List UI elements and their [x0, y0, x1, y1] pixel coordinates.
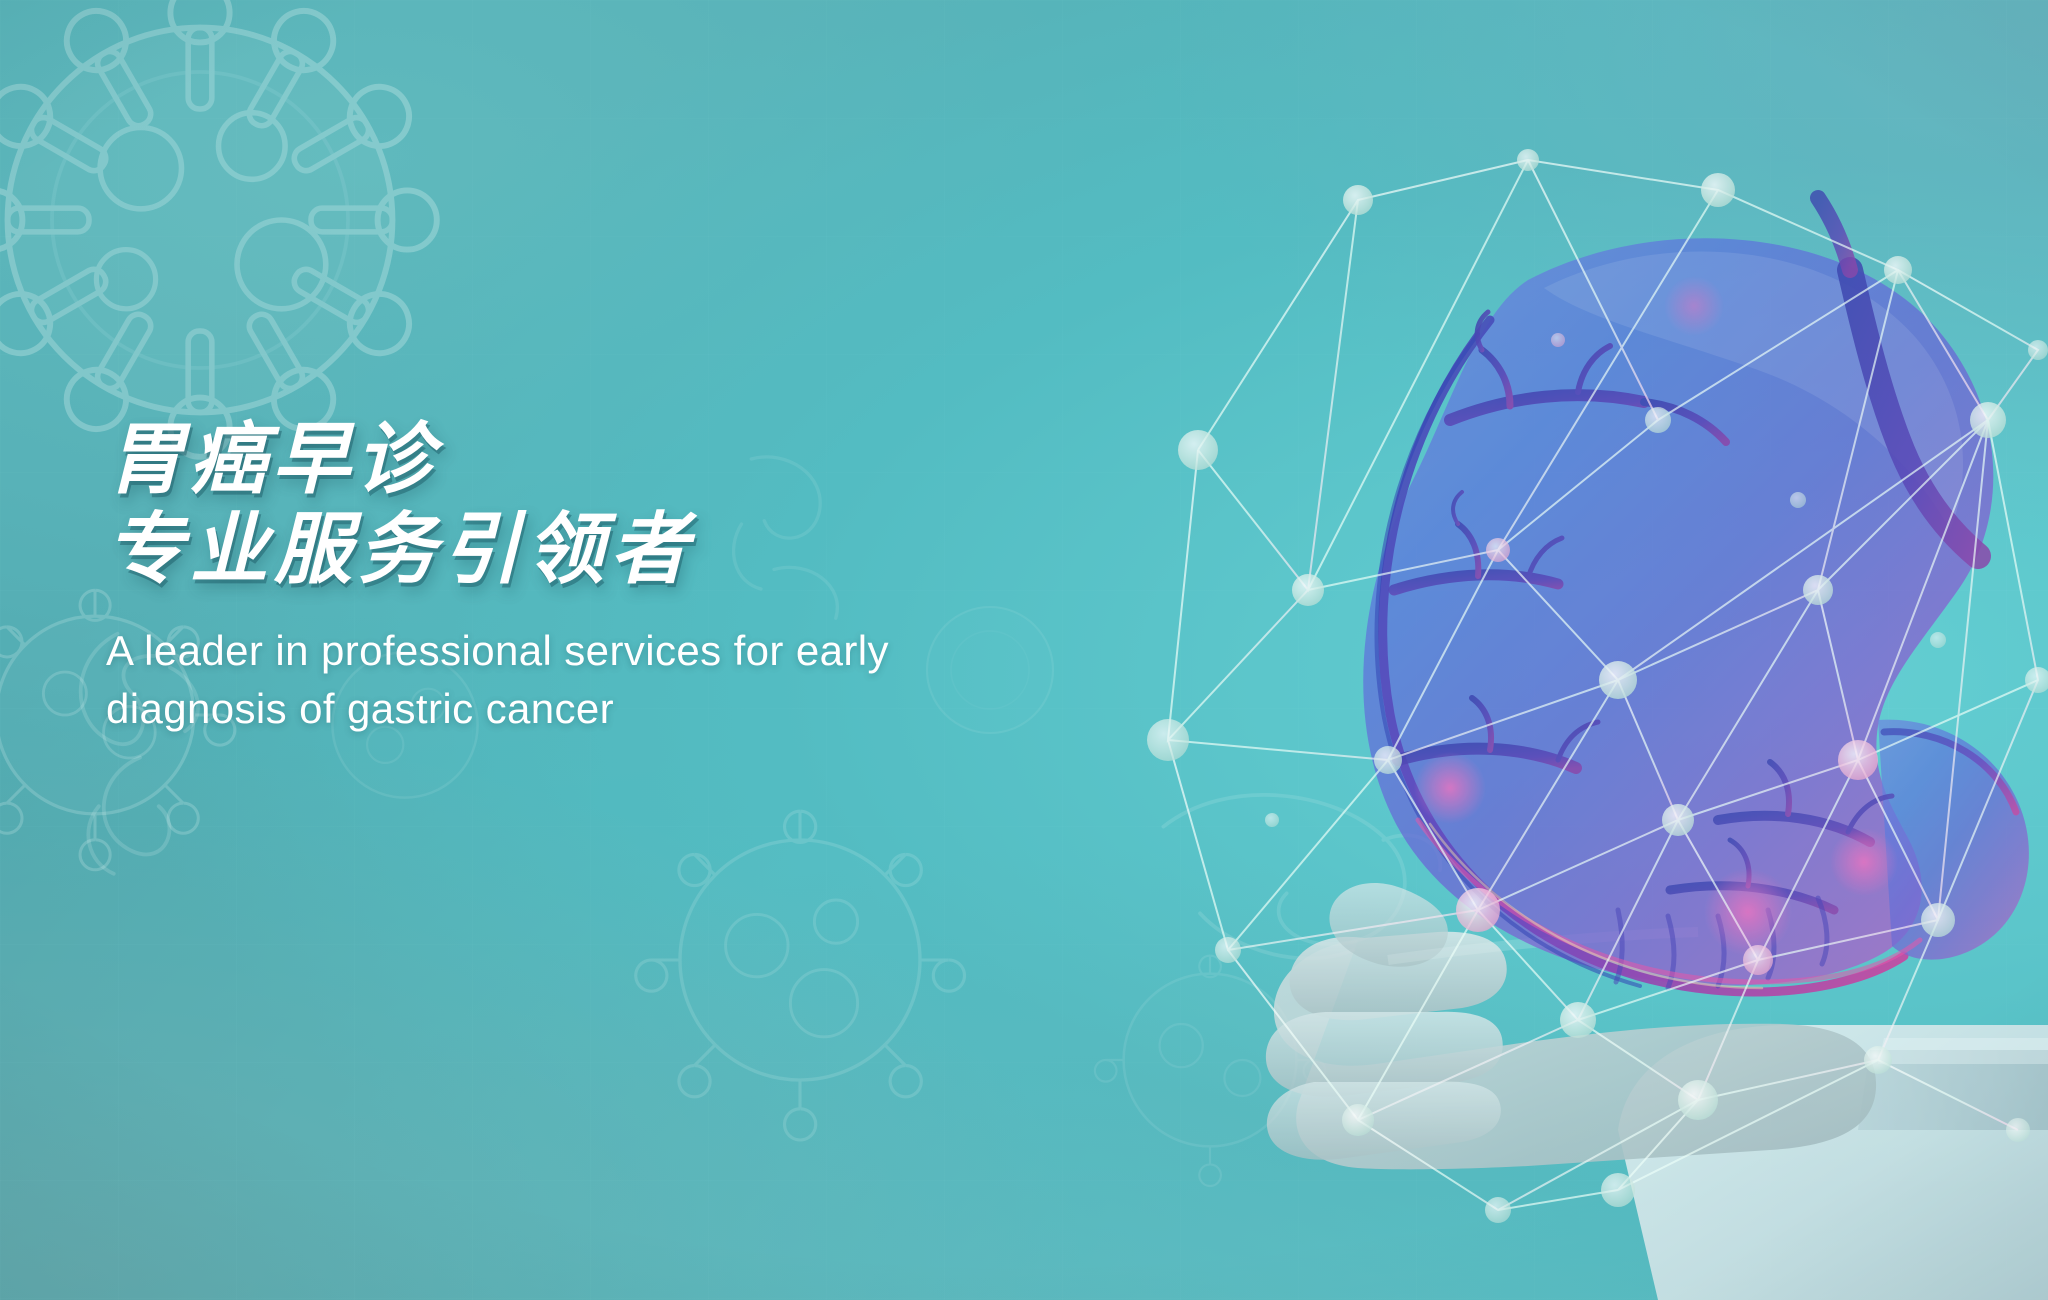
headline-line-1: 胃癌早诊 — [106, 415, 1166, 505]
subtitle-line-2: diagnosis of gastric cancer — [106, 685, 614, 732]
hero-banner: 胃癌早诊 专业服务引领者 A leader in professional se… — [0, 0, 2048, 1300]
page-subtitle: A leader in professional services for ea… — [106, 622, 906, 738]
headline-line-2: 专业服务引领者 — [106, 505, 1166, 595]
stomach-network-illustration — [1058, 120, 2048, 1300]
network-mesh-overlay — [1058, 120, 2048, 1300]
banner-copy-block: 胃癌早诊 专业服务引领者 A leader in professional se… — [106, 415, 1166, 738]
subtitle-line-1: A leader in professional services for ea… — [106, 627, 889, 674]
page-title: 胃癌早诊 专业服务引领者 — [106, 415, 1166, 596]
